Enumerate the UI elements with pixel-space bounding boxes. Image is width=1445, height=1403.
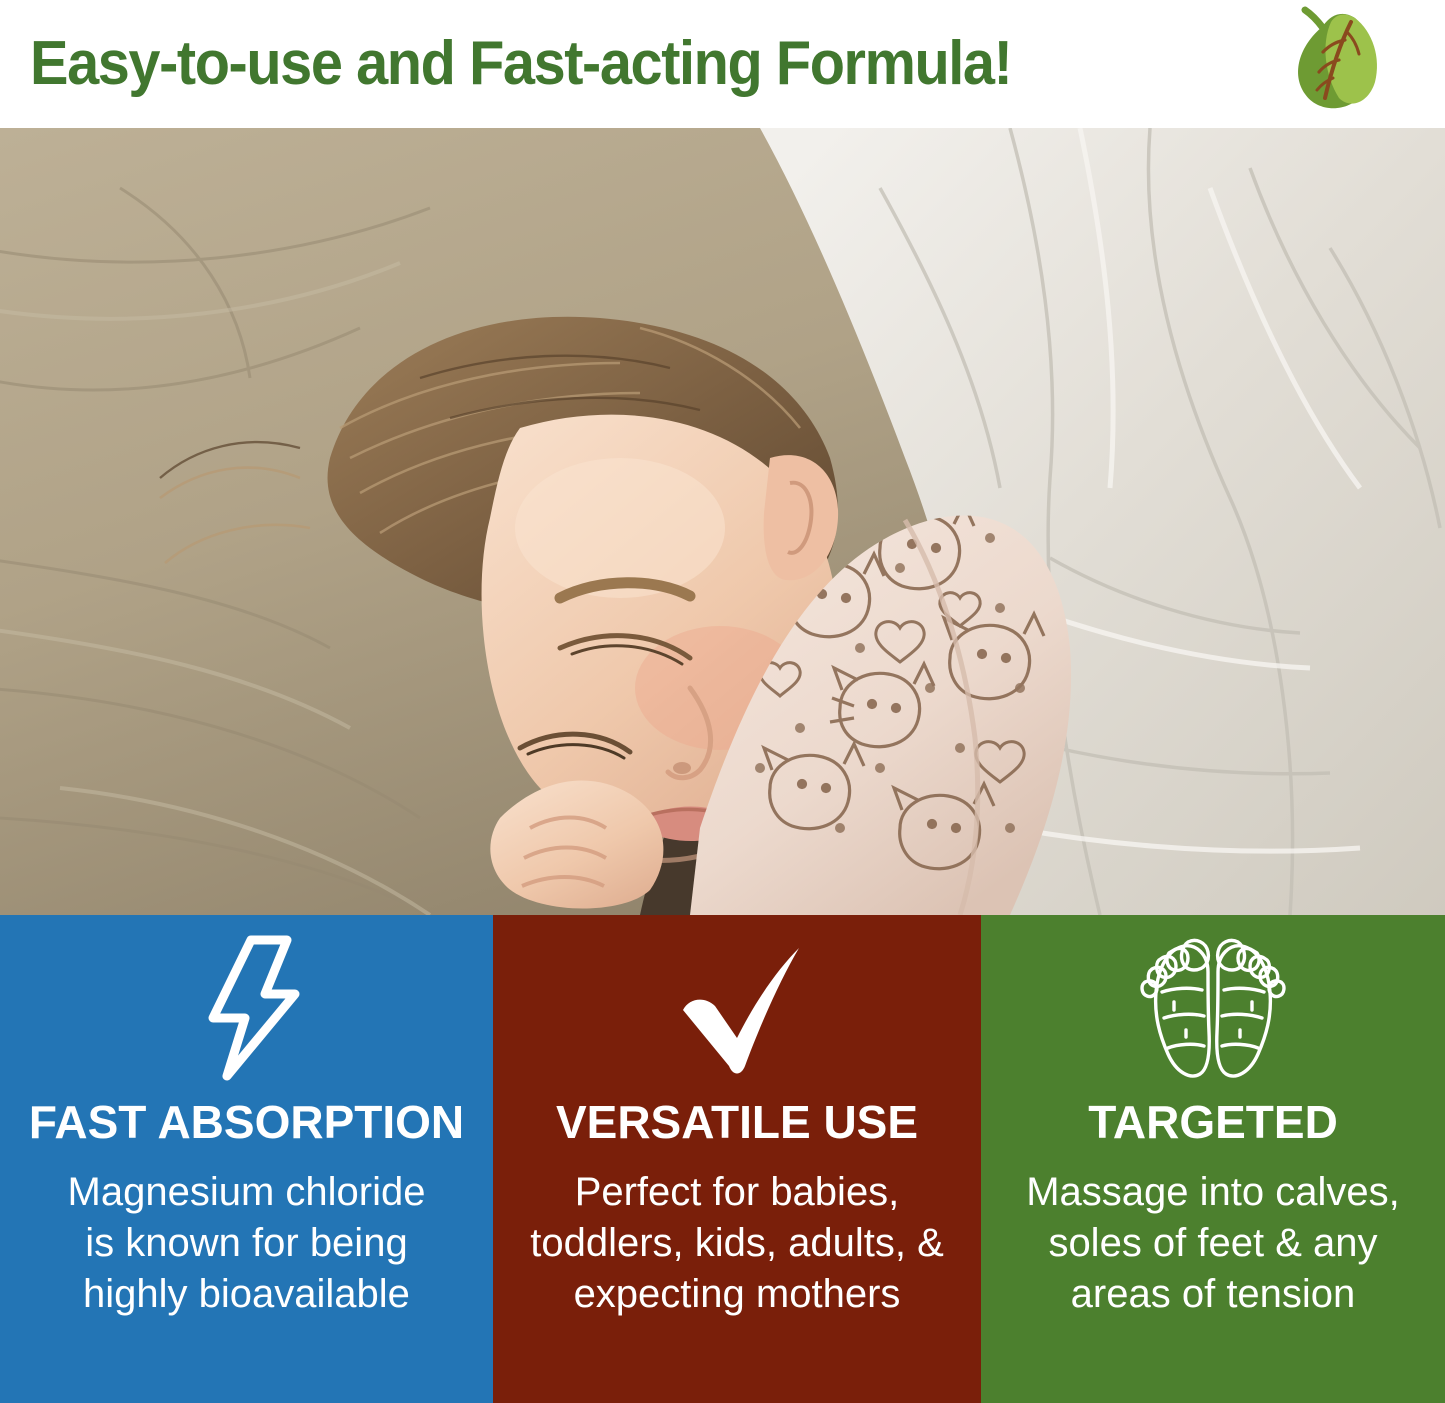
panel-description: Perfect for babies, toddlers, kids, adul… (516, 1167, 958, 1321)
panel-title: FAST ABSORPTION (29, 1099, 464, 1145)
feature-panels: FAST ABSORPTION Magnesium chloride is kn… (0, 915, 1445, 1403)
header-banner: Easy-to-use and Fast-acting Formula! (0, 0, 1445, 128)
lightning-bolt-icon (191, 933, 303, 1083)
panel-title: VERSATILE USE (556, 1099, 918, 1145)
hero-photo-sleeping-child (0, 128, 1445, 915)
leaf-icon (1281, 2, 1391, 120)
checkmark-icon (667, 933, 807, 1083)
feature-panel-versatile-use: VERSATILE USE Perfect for babies, toddle… (493, 915, 981, 1403)
feature-panel-targeted: TARGETED Massage into calves, soles of f… (981, 915, 1445, 1403)
feature-panel-fast-absorption: FAST ABSORPTION Magnesium chloride is kn… (0, 915, 493, 1403)
product-feature-image: Easy-to-use and Fast-acting Formula! (0, 0, 1445, 1403)
panel-title: TARGETED (1088, 1099, 1338, 1145)
feet-soles-icon (1138, 933, 1288, 1083)
panel-description: Massage into calves, soles of feet & any… (1012, 1167, 1414, 1321)
panel-description: Magnesium chloride is known for being hi… (54, 1167, 440, 1321)
page-title: Easy-to-use and Fast-acting Formula! (30, 33, 1011, 95)
